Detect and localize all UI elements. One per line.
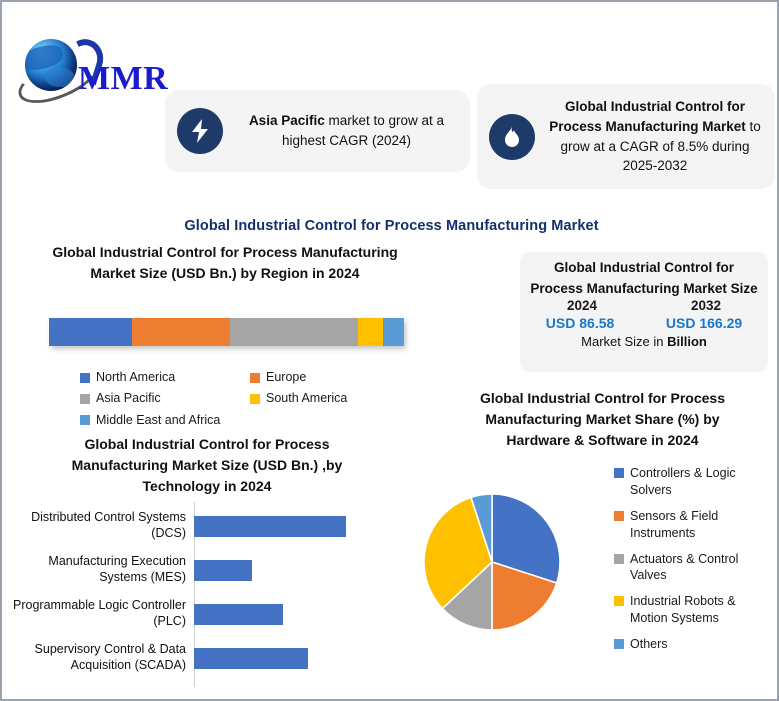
pie-chart-title: Global Industrial Control for ProcessMan… xyxy=(430,388,775,451)
region-stacked-bar xyxy=(49,318,404,346)
technology-bar-row: Distributed Control Systems (DCS) xyxy=(10,510,400,542)
legend-item: Industrial Robots & Motion Systems xyxy=(614,593,774,627)
legend-item: Europe xyxy=(250,368,420,387)
region-segment xyxy=(358,318,383,346)
legend-swatch-icon xyxy=(614,596,624,606)
legend-label: Asia Pacific xyxy=(96,389,161,408)
market-size-years: 2024 2032 xyxy=(520,298,768,313)
brand-name: MMR xyxy=(78,60,168,98)
legend-label: South America xyxy=(266,389,347,408)
banner-asia-pacific-text: Asia Pacific market to grow at a highest… xyxy=(223,111,470,150)
pie-chart-title-line: Global Industrial Control for Process xyxy=(430,388,775,409)
market-size-card-title: Global Industrial Control for Process Ma… xyxy=(520,252,768,300)
market-size-footer-unit: Billion xyxy=(667,334,707,349)
market-size-footer: Market Size in Billion xyxy=(520,334,768,349)
technology-bar xyxy=(194,516,346,537)
legend-swatch-icon xyxy=(80,394,90,404)
value-2032: USD 166.29 xyxy=(666,315,742,331)
region-segment xyxy=(230,318,358,346)
market-size-footer-prefix: Market Size in xyxy=(581,334,667,349)
lightning-bolt-icon xyxy=(177,108,223,154)
legend-swatch-icon xyxy=(250,394,260,404)
legend-label: Industrial Robots & Motion Systems xyxy=(630,593,774,627)
technology-bar-label: Manufacturing Execution Systems (MES) xyxy=(10,554,194,585)
legend-swatch-icon xyxy=(614,554,624,564)
year-2032-label: 2032 xyxy=(691,298,721,313)
infographic-page: MMR Asia Pacific market to grow at a hig… xyxy=(0,0,779,701)
region-chart-title: Global Industrial Control for Process Ma… xyxy=(30,242,420,284)
pie-chart-svg xyxy=(422,492,562,632)
region-segment xyxy=(383,318,404,346)
banner-2-bold: Global Industrial Control for Process Ma… xyxy=(549,99,746,134)
legend-swatch-icon xyxy=(614,639,624,649)
region-chart-legend: North AmericaEuropeAsia PacificSouth Ame… xyxy=(80,368,420,432)
technology-bar-label: Distributed Control Systems (DCS) xyxy=(10,510,194,541)
value-2024: USD 86.58 xyxy=(546,315,614,331)
pie-chart-title-line: Manufacturing Market Share (%) by xyxy=(430,409,775,430)
legend-swatch-icon xyxy=(614,468,624,478)
pie-chart-legend: Controllers & Logic SolversSensors & Fie… xyxy=(614,465,774,662)
technology-bar-chart: Distributed Control Systems (DCS)Manufac… xyxy=(10,502,400,687)
legend-label: North America xyxy=(96,368,175,387)
legend-item: Sensors & Field Instruments xyxy=(614,508,774,542)
region-segment xyxy=(49,318,132,346)
technology-bar xyxy=(194,648,308,669)
legend-item: North America xyxy=(80,368,250,387)
banner-cagr-text: Global Industrial Control for Process Ma… xyxy=(535,97,775,175)
banner-cagr: Global Industrial Control for Process Ma… xyxy=(477,84,775,189)
pie-chart xyxy=(422,492,562,632)
legend-label: Europe xyxy=(266,368,306,387)
legend-item: Asia Pacific xyxy=(80,389,250,408)
legend-item: South America xyxy=(250,389,420,408)
legend-swatch-icon xyxy=(80,415,90,425)
legend-swatch-icon xyxy=(250,373,260,383)
technology-chart-title-line: Global Industrial Control for Process xyxy=(7,434,407,455)
technology-bar-row: Programmable Logic Controller (PLC) xyxy=(10,598,400,630)
legend-label: Others xyxy=(630,636,668,653)
technology-chart-title: Global Industrial Control for ProcessMan… xyxy=(7,434,407,497)
market-size-values: USD 86.58 USD 166.29 xyxy=(520,315,768,331)
banner-asia-pacific: Asia Pacific market to grow at a highest… xyxy=(165,90,470,172)
mmr-logo: MMR xyxy=(16,32,176,102)
legend-label: Middle East and Africa xyxy=(96,411,220,430)
technology-bar-row: Supervisory Control & Data Acquisition (… xyxy=(10,642,400,674)
region-segment xyxy=(132,318,230,346)
legend-item: Actuators & Control Valves xyxy=(614,551,774,585)
legend-swatch-icon xyxy=(614,511,624,521)
page-title: Global Industrial Control for Process Ma… xyxy=(2,218,779,234)
banner-1-bold: Asia Pacific xyxy=(249,113,325,128)
legend-label: Controllers & Logic Solvers xyxy=(630,465,774,499)
technology-bar-label: Supervisory Control & Data Acquisition (… xyxy=(10,642,194,673)
technology-bar-label: Programmable Logic Controller (PLC) xyxy=(10,598,194,629)
legend-swatch-icon xyxy=(80,373,90,383)
pie-chart-title-line: Hardware & Software in 2024 xyxy=(430,430,775,451)
technology-bar-row: Manufacturing Execution Systems (MES) xyxy=(10,554,400,586)
technology-chart-title-line: Technology in 2024 xyxy=(7,476,407,497)
legend-label: Actuators & Control Valves xyxy=(630,551,774,585)
legend-item: Middle East and Africa xyxy=(80,411,420,430)
year-2024-label: 2024 xyxy=(567,298,597,313)
legend-label: Sensors & Field Instruments xyxy=(630,508,774,542)
market-size-card: Global Industrial Control for Process Ma… xyxy=(520,252,768,372)
legend-item: Controllers & Logic Solvers xyxy=(614,465,774,499)
technology-bar xyxy=(194,560,252,581)
flame-icon xyxy=(489,114,535,160)
legend-item: Others xyxy=(614,636,774,653)
technology-chart-title-line: Manufacturing Market Size (USD Bn.) ,by xyxy=(7,455,407,476)
technology-bar xyxy=(194,604,283,625)
